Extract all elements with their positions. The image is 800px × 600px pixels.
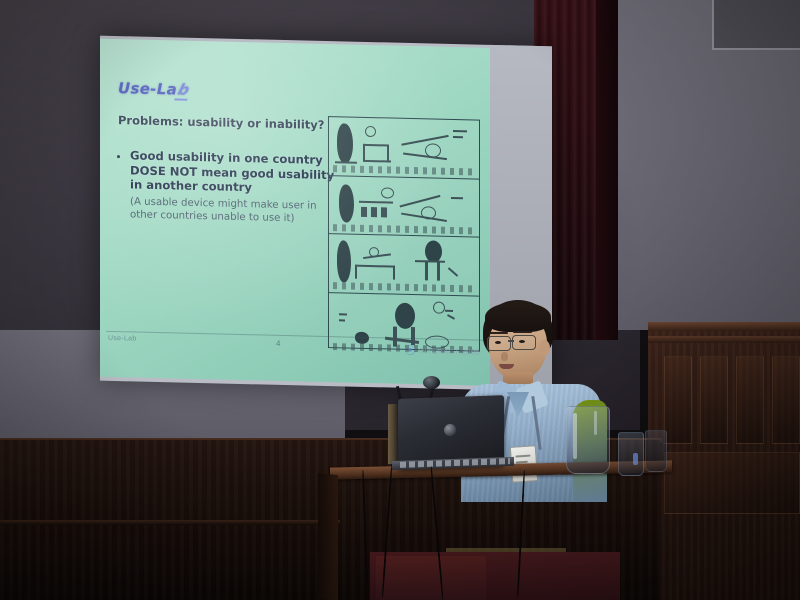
eye-left bbox=[495, 341, 501, 344]
wood-cornice-second bbox=[648, 336, 800, 343]
presentation-slide: Use-Lab Problems: usability or inability… bbox=[100, 39, 490, 386]
swirl-logo-icon: ⦿ bbox=[405, 345, 416, 357]
presentation-photo: Use-Lab Problems: usability or inability… bbox=[0, 0, 800, 600]
pitcher-highlight bbox=[573, 413, 577, 459]
nose bbox=[501, 352, 508, 361]
wood-panel-wide bbox=[664, 452, 800, 514]
use-lab-logo: Use-Lab bbox=[118, 79, 190, 101]
use-lab-logo-text: Use-La bbox=[118, 79, 177, 98]
cartoon-panel-3 bbox=[329, 234, 479, 296]
curtain-fold bbox=[596, 0, 618, 340]
cartoon-panel-2 bbox=[329, 176, 479, 238]
eye-right bbox=[519, 340, 525, 343]
cartoon-panel-1 bbox=[329, 117, 479, 179]
water-pitcher bbox=[566, 406, 610, 474]
wood-panel bbox=[736, 356, 764, 444]
wall-picture-frame bbox=[712, 0, 800, 50]
microphone-head bbox=[423, 376, 440, 389]
ear bbox=[539, 340, 550, 356]
seat-front-left bbox=[376, 556, 486, 600]
slide-bullet: Good usability in one country DOSE NOT m… bbox=[114, 148, 344, 226]
pitcher-handle bbox=[594, 411, 597, 435]
wood-panel bbox=[664, 356, 692, 444]
glass-highlight bbox=[633, 453, 638, 465]
hair-fringe bbox=[485, 302, 551, 332]
bullet-dot-icon bbox=[117, 155, 120, 158]
drinking-glass-front bbox=[618, 432, 644, 476]
slide-page-number: 4 bbox=[276, 339, 280, 348]
glasses-bridge bbox=[508, 340, 514, 342]
wood-cornice-top bbox=[648, 322, 800, 331]
wood-panel bbox=[772, 356, 800, 444]
laptop-logo-icon bbox=[444, 424, 456, 436]
bullet-sub-text: (A usable device might make user in othe… bbox=[130, 195, 344, 226]
wood-rail-lower bbox=[0, 520, 340, 525]
slide-footer-left: Use-Lab bbox=[108, 335, 137, 343]
podium-side-face bbox=[318, 473, 338, 600]
bullet-main-text: Good usability in one country DOSE NOT m… bbox=[130, 148, 344, 197]
slide-heading: Problems: usability or inability? bbox=[118, 113, 324, 132]
drinking-glass-back bbox=[645, 430, 667, 472]
wood-panel bbox=[700, 356, 728, 444]
